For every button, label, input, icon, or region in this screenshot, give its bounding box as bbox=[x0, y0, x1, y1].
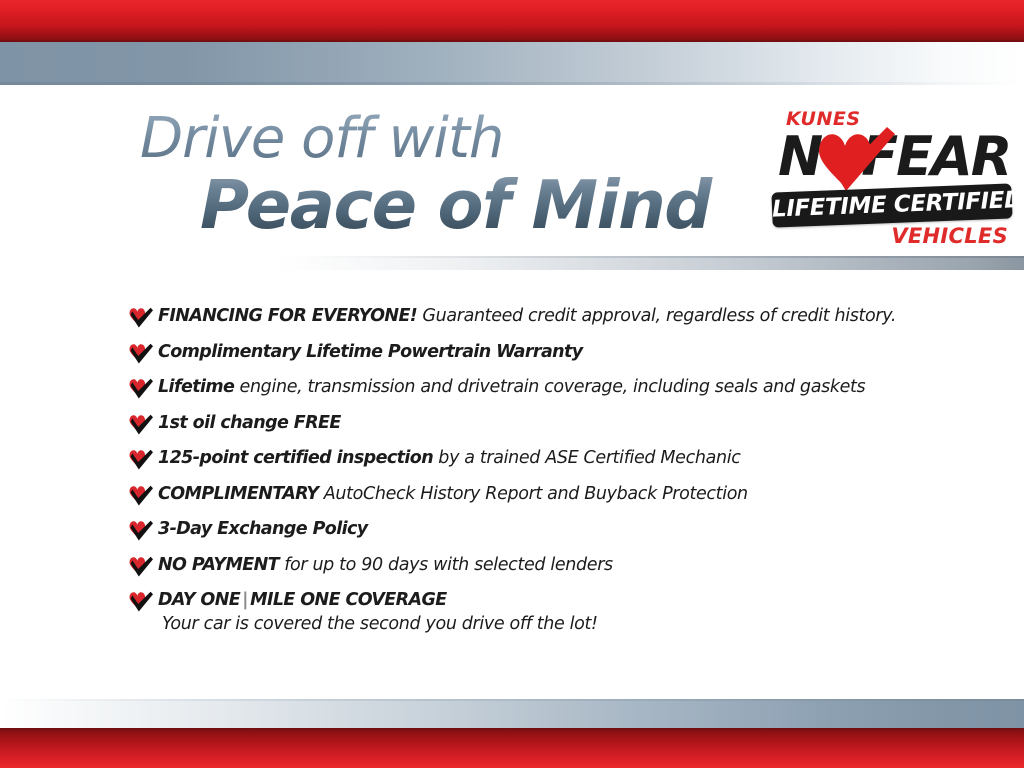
list-item-rest: Guaranteed credit approval, regardless o… bbox=[417, 306, 896, 326]
headline-line-2: Peace of Mind bbox=[0, 169, 740, 241]
heart-check-icon bbox=[128, 556, 154, 578]
list-item-subline: Your car is covered the second you drive… bbox=[162, 614, 598, 634]
promotional-banner: Drive off with Peace of Mind KUNES NFEAR… bbox=[0, 0, 1024, 768]
list-item-bold: 3-Day Exchange Policy bbox=[158, 519, 368, 539]
list-item-bold: DAY ONE bbox=[158, 590, 240, 610]
list-item-bold: FINANCING FOR EVERYONE! bbox=[158, 306, 417, 326]
heart-check-icon bbox=[128, 414, 154, 436]
list-item: FINANCING FOR EVERYONE! Guaranteed credi… bbox=[128, 306, 988, 329]
logo-lifetime-certified-banner: LIFETIME CERTIFIED bbox=[771, 183, 1012, 227]
list-item-bold: Lifetime bbox=[158, 377, 234, 397]
list-item-rest: for up to 90 days with selected lenders bbox=[279, 555, 613, 575]
list-item-rest: engine, transmission and drivetrain cove… bbox=[234, 377, 865, 397]
list-item-text: NO PAYMENT for up to 90 days with select… bbox=[158, 555, 613, 576]
logo-vehicles-text: VEHICLES bbox=[891, 224, 1008, 248]
headline-divider bbox=[0, 256, 1024, 270]
list-item-rest: by a trained ASE Certified Mechanic bbox=[433, 448, 740, 468]
list-item-text-group: DAY ONE|MILE ONE COVERAGE Your car is co… bbox=[158, 590, 598, 634]
bottom-gray-accent-bar bbox=[0, 699, 1024, 728]
list-item-text: DAY ONE|MILE ONE COVERAGE bbox=[158, 590, 447, 610]
top-red-accent-bar bbox=[0, 0, 1024, 42]
list-item-separator: | bbox=[240, 590, 250, 610]
list-item-text: COMPLIMENTARY AutoCheck History Report a… bbox=[158, 484, 748, 505]
list-item: DAY ONE|MILE ONE COVERAGE Your car is co… bbox=[128, 590, 988, 634]
heart-check-icon bbox=[128, 591, 154, 613]
list-item-bold: COMPLIMENTARY bbox=[158, 484, 319, 504]
list-item-bold-2: MILE ONE COVERAGE bbox=[250, 590, 446, 610]
list-item-bold: 125-point certified inspection bbox=[158, 448, 433, 468]
heart-check-icon bbox=[128, 343, 154, 365]
logo-banner-text: LIFETIME CERTIFIED bbox=[771, 183, 1012, 227]
top-gray-accent-bar bbox=[0, 42, 1024, 85]
heart-check-icon bbox=[128, 378, 154, 400]
bottom-red-accent-bar bbox=[0, 728, 1024, 768]
list-item: Lifetime engine, transmission and drivet… bbox=[128, 377, 988, 400]
heart-check-icon bbox=[128, 449, 154, 471]
heart-check-icon bbox=[128, 307, 154, 329]
list-item: 125-point certified inspection by a trai… bbox=[128, 448, 988, 471]
list-item-bold: NO PAYMENT bbox=[158, 555, 279, 575]
list-item-bold: 1st oil change FREE bbox=[158, 413, 341, 433]
list-item-rest: AutoCheck History Report and Buyback Pro… bbox=[319, 484, 748, 504]
heart-check-icon bbox=[128, 520, 154, 542]
list-item-text: 3-Day Exchange Policy bbox=[158, 519, 368, 540]
list-item: COMPLIMENTARY AutoCheck History Report a… bbox=[128, 484, 988, 507]
list-item: Complimentary Lifetime Powertrain Warran… bbox=[128, 342, 988, 365]
list-item-bold: Complimentary Lifetime Powertrain Warran… bbox=[158, 342, 583, 362]
list-item: NO PAYMENT for up to 90 days with select… bbox=[128, 555, 988, 578]
kunes-no-fear-logo: KUNES NFEAR LIFETIME CERTIFIED VEHICLES bbox=[772, 108, 1014, 250]
list-item-text: 1st oil change FREE bbox=[158, 413, 341, 434]
headline-block: Drive off with Peace of Mind bbox=[0, 110, 740, 241]
list-item: 3-Day Exchange Policy bbox=[128, 519, 988, 542]
heart-check-icon bbox=[128, 485, 154, 507]
benefits-list: FINANCING FOR EVERYONE! Guaranteed credi… bbox=[128, 306, 988, 646]
list-item-text: Complimentary Lifetime Powertrain Warran… bbox=[158, 342, 583, 363]
list-item-text: FINANCING FOR EVERYONE! Guaranteed credi… bbox=[158, 306, 896, 327]
list-item-text: Lifetime engine, transmission and drivet… bbox=[158, 377, 865, 398]
list-item: 1st oil change FREE bbox=[128, 413, 988, 436]
list-item-text: 125-point certified inspection by a trai… bbox=[158, 448, 740, 469]
headline-line-1: Drive off with bbox=[0, 110, 740, 169]
